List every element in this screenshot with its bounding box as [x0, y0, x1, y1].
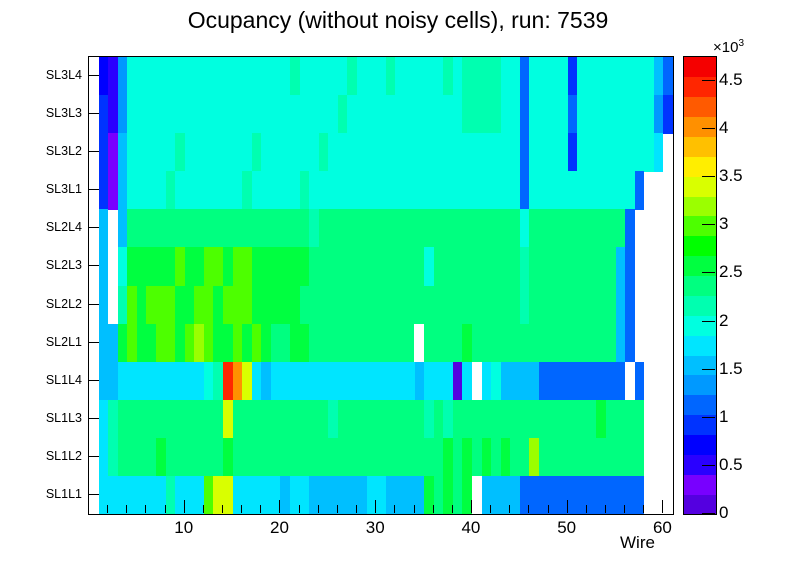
heatmap-cell [194, 324, 204, 363]
palette-tick-label: 1.5 [719, 360, 743, 378]
heatmap-cell [577, 95, 654, 134]
palette-band [684, 295, 716, 315]
y-axis-label-sl3l2: SL3L2 [46, 145, 82, 157]
x-axis-minor-tick [337, 505, 338, 513]
heatmap-cell [453, 476, 463, 514]
palette-tick-label: 1 [719, 408, 728, 426]
heatmap-cell [175, 247, 185, 286]
heatmap-cell [271, 362, 415, 401]
heatmap-cell [156, 438, 166, 477]
heatmap-cell [300, 171, 310, 210]
heatmap-cell [99, 209, 109, 248]
heatmap-cell [127, 57, 290, 96]
palette-tick [702, 417, 715, 418]
heatmap-cell [472, 324, 616, 363]
palette-band [684, 395, 716, 415]
heatmap-cell [204, 476, 214, 514]
heatmap-cell [185, 324, 195, 363]
palette-band [684, 435, 716, 455]
y-axis-tick [88, 304, 99, 305]
heatmap-cell [415, 362, 425, 401]
heatmap-cell [99, 438, 109, 477]
y-axis-label-sl2l4: SL2L4 [46, 221, 82, 233]
x-axis-minor-tick [643, 505, 644, 513]
palette-tick-label: 4 [719, 119, 728, 137]
y-axis-label-sl3l4: SL3L4 [46, 69, 82, 81]
palette-tick [702, 80, 715, 81]
heatmap-cell [118, 209, 128, 248]
palette-tick-label: 2 [719, 312, 728, 330]
heatmap-cell [529, 171, 634, 210]
heatmap-cell [462, 362, 472, 401]
heatmap-cell [319, 133, 329, 172]
x-axis-minor-tick [414, 505, 415, 513]
heatmap-cell [118, 57, 128, 96]
heatmap-cell [347, 57, 357, 96]
heatmap-cell [204, 247, 223, 286]
heatmap-cell [300, 286, 520, 325]
heatmap-cell [137, 286, 147, 325]
heatmap-cell [175, 133, 185, 172]
heatmap-cell [501, 362, 539, 401]
y-axis-label-sl1l3: SL1L3 [46, 412, 82, 424]
heatmap-cell [596, 400, 606, 439]
palette-tick [702, 321, 715, 322]
palette-tick-label: 0.5 [719, 456, 743, 474]
heatmap-cell [194, 286, 213, 325]
x-axis-major-tick [471, 500, 472, 513]
x-axis-major-tick [279, 500, 280, 513]
heatmap-cell [127, 95, 338, 134]
heatmap-cell [166, 438, 223, 477]
heatmap-cell [118, 95, 128, 134]
heatmap-cell [424, 324, 462, 363]
heatmap-cell [625, 209, 635, 248]
heatmap-cell [616, 286, 626, 325]
y-axis-tick [88, 265, 99, 266]
palette-band [684, 176, 716, 196]
heatmap-cell [482, 476, 520, 514]
heatmap-cell [443, 400, 453, 439]
heatmap-cell [328, 133, 519, 172]
heatmap-cell [654, 57, 664, 96]
heatmap-cell [625, 324, 635, 363]
heatmap-cell [357, 57, 386, 96]
y-axis-tick [88, 456, 99, 457]
heatmap-cell [99, 171, 109, 210]
x-axis-minor-tick [107, 505, 108, 513]
root-canvas: Ocupancy (without noisy cells), run: 753… [0, 0, 796, 572]
heatmap-cell [166, 476, 176, 514]
y-axis-tick [88, 380, 99, 381]
heatmap-cell [539, 362, 625, 401]
palette-band [684, 375, 716, 395]
y-axis-label-sl3l1: SL3L1 [46, 183, 82, 195]
x-axis-minor-tick [318, 505, 319, 513]
x-axis-minor-tick [605, 505, 606, 513]
heatmap-cell [568, 95, 578, 134]
heatmap-cell [520, 209, 530, 248]
y-axis-tick [88, 151, 99, 152]
heatmap-cell [118, 286, 128, 325]
heatmap-cell [118, 324, 128, 363]
y-axis-tick [88, 75, 99, 76]
palette-tick [702, 176, 715, 177]
heatmap-cell [118, 171, 128, 210]
heatmap-cell [261, 324, 271, 363]
heatmap-cell [233, 324, 243, 363]
palette-band [684, 136, 716, 156]
heatmap-cell [99, 133, 109, 172]
heatmap-cell [252, 133, 262, 172]
heatmap-cell [625, 286, 635, 325]
heatmap-cell [252, 171, 300, 210]
heatmap-cell [635, 171, 645, 210]
heatmap-cell [529, 438, 539, 477]
heatmap-cell [635, 362, 645, 401]
heatmap-cell [520, 95, 530, 134]
heatmap-cell [529, 286, 615, 325]
page-title: Ocupancy (without noisy cells), run: 753… [0, 6, 796, 34]
heatmap-cell [99, 362, 118, 401]
y-axis-tick [88, 418, 99, 419]
heatmap-cell [520, 57, 530, 96]
heatmap-cell [309, 247, 424, 286]
x-axis-minor-tick [528, 505, 529, 513]
heatmap-cell [233, 247, 252, 286]
y-axis-tick [88, 227, 99, 228]
palette-tick [702, 224, 715, 225]
heatmap-cell [204, 362, 214, 401]
heatmap-cell [347, 95, 462, 134]
heatmap-cell [328, 400, 338, 439]
heatmap-cell [453, 362, 463, 401]
heatmap-cell [319, 209, 520, 248]
x-axis-tick-label: 50 [542, 519, 592, 537]
heatmap-cell [616, 247, 626, 286]
heatmap-cell [213, 324, 232, 363]
heatmap-cell [443, 438, 453, 477]
palette-exponent-base: ×10 [713, 39, 738, 56]
heatmap-cell [99, 476, 166, 514]
y-axis-tick [88, 494, 99, 495]
palette-band [684, 276, 716, 296]
heatmap-cell [280, 476, 290, 514]
heatmap-cell [185, 133, 252, 172]
y-axis-label-sl1l4: SL1L4 [46, 374, 82, 386]
palette-band [684, 494, 716, 514]
heatmap-cell [252, 286, 300, 325]
x-axis-major-tick [184, 500, 185, 513]
heatmap-cell [539, 438, 644, 477]
palette-tick-label: 4.5 [719, 71, 743, 89]
x-axis-minor-tick [299, 505, 300, 513]
palette-band [684, 156, 716, 176]
x-axis-major-tick [662, 500, 663, 513]
heatmap-cell [223, 438, 233, 477]
palette-band [684, 216, 716, 236]
heatmap-cell [309, 171, 520, 210]
x-axis-minor-tick [165, 505, 166, 513]
y-axis-labels: SL3L4SL3L3SL3L2SL3L1SL2L4SL2L3SL2L2SL2L1… [0, 56, 82, 513]
x-axis-minor-tick [586, 505, 587, 513]
heatmap-cell [223, 247, 233, 286]
heatmap-cell [185, 247, 204, 286]
heatmap-cell [242, 171, 252, 210]
heatmap-cell [568, 133, 578, 172]
heatmap-cell [654, 95, 664, 134]
x-axis-minor-tick [241, 505, 242, 513]
palette-band [684, 335, 716, 355]
heatmap-cell [606, 400, 644, 439]
palette-tick-label: 0 [719, 504, 728, 522]
heatmap-cell [520, 476, 644, 514]
palette-band [684, 236, 716, 256]
heatmap-cell [261, 362, 271, 401]
heatmap-cell [118, 133, 128, 172]
palette-tick [702, 513, 715, 514]
heatmap-cell [529, 57, 567, 96]
heatmap-cell [520, 171, 530, 210]
x-axis-tick-label: 10 [159, 519, 209, 537]
x-axis-title: Wire [620, 534, 655, 552]
x-axis-minor-tick [145, 505, 146, 513]
x-axis-minor-tick [203, 505, 204, 513]
heatmap-cell [127, 133, 175, 172]
heatmap-cell [127, 286, 137, 325]
heatmap-cell [108, 171, 118, 210]
heatmap-cell [424, 400, 434, 439]
palette-band [684, 196, 716, 216]
heatmap-cell [271, 324, 290, 363]
y-axis-label-sl2l3: SL2L3 [46, 259, 82, 271]
heatmap-cell [99, 57, 109, 96]
color-palette-bar [683, 56, 717, 515]
heatmap-cell [434, 400, 444, 439]
heatmap-cell [223, 362, 233, 401]
heatmap-cell [118, 400, 223, 439]
heatmap-cell [127, 324, 137, 363]
heatmap-cell [242, 324, 252, 363]
x-axis-minor-tick [433, 505, 434, 513]
heatmap-cell [577, 133, 654, 172]
heatmap-cell [663, 95, 673, 134]
x-axis-minor-tick [88, 505, 89, 513]
heatmap-cell [510, 438, 529, 477]
heatmap-cell [443, 57, 453, 96]
heatmap-cell [99, 95, 109, 134]
heatmap-cell [175, 286, 194, 325]
heatmap-cell [99, 324, 118, 363]
heatmap-cell [654, 133, 664, 172]
heatmap-cell [175, 476, 204, 514]
palette-band [684, 474, 716, 494]
heatmap-cell [166, 171, 176, 210]
heatmap-cell [233, 400, 329, 439]
heatmap-cell [290, 324, 309, 363]
heatmap-cell [482, 362, 492, 401]
heatmap-cell [118, 362, 204, 401]
heatmap-cell [529, 209, 625, 248]
palette-tick [702, 369, 715, 370]
heatmap-cell [501, 438, 511, 477]
palette-band [684, 355, 716, 375]
x-axis-minor-tick [356, 505, 357, 513]
heatmap-cell [175, 324, 185, 363]
heatmap-cell [529, 247, 615, 286]
palette-tick [702, 465, 715, 466]
x-axis-minor-tick [126, 505, 127, 513]
heatmap-cell [338, 400, 424, 439]
heatmap-cell [386, 57, 396, 96]
heatmap-cell [146, 286, 175, 325]
heatmap-cell [625, 247, 635, 286]
heatmap-cell [577, 57, 654, 96]
heatmap-cell [290, 57, 300, 96]
heatmap-cell [529, 95, 567, 134]
palette-tick [702, 272, 715, 273]
heatmap-cell [424, 247, 434, 286]
heatmap-cell [204, 324, 214, 363]
x-axis-tick-label: 30 [350, 519, 400, 537]
plot-frame [88, 56, 674, 515]
heatmap-cell [233, 476, 281, 514]
heatmap-cell [434, 476, 444, 514]
x-axis-major-tick [567, 500, 568, 513]
heatmap-cell [501, 95, 520, 134]
heatmap-cell [501, 57, 520, 96]
y-axis-tick [88, 342, 99, 343]
x-axis-minor-tick [548, 505, 549, 513]
heatmap-cell [252, 247, 309, 286]
heatmap-cell [290, 476, 309, 514]
heatmap-cell [99, 400, 109, 439]
x-axis-minor-tick [222, 505, 223, 513]
heatmap-cell [127, 247, 175, 286]
palette-tick [702, 128, 715, 129]
heatmap-cell [99, 247, 109, 286]
palette-exponent-label: ×103 [713, 36, 744, 56]
heatmap-cell [108, 57, 118, 96]
y-axis-tick [88, 189, 99, 190]
heatmap-cell [118, 438, 156, 477]
heatmap-cell [472, 438, 482, 477]
x-axis-minor-tick [509, 505, 510, 513]
heatmap-cell [434, 247, 520, 286]
x-axis-minor-tick [394, 505, 395, 513]
palette-tick-label: 3.5 [719, 167, 743, 185]
palette-exponent-power: 3 [738, 38, 744, 49]
heatmap-canvas[interactable] [89, 57, 673, 514]
heatmap-cell [424, 362, 453, 401]
y-axis-label-sl2l2: SL2L2 [46, 298, 82, 310]
heatmap-cell [395, 57, 443, 96]
heatmap-cell [386, 476, 424, 514]
heatmap-cell [156, 324, 175, 363]
heatmap-cell [462, 57, 500, 96]
heatmap-cell [491, 438, 501, 477]
heatmap-cell [663, 57, 673, 96]
heatmap-cell [223, 286, 252, 325]
heatmap-cell [529, 133, 567, 172]
y-axis-tick [88, 113, 99, 114]
x-axis-major-tick [375, 500, 376, 513]
x-axis-minor-tick [490, 505, 491, 513]
x-axis-minor-tick [624, 505, 625, 513]
heatmap-cell [242, 362, 252, 401]
x-axis-tick-label: 20 [254, 519, 304, 537]
heatmap-cell [233, 362, 243, 401]
heatmap-cell [108, 400, 118, 439]
heatmap-cell [309, 209, 319, 248]
heatmap-cell [261, 133, 318, 172]
heatmap-cell [252, 362, 262, 401]
x-axis-minor-tick [260, 505, 261, 513]
heatmap-cell [213, 286, 223, 325]
heatmap-cell [127, 209, 309, 248]
heatmap-cell [482, 438, 492, 477]
heatmap-cell [213, 362, 223, 401]
x-axis-tick-label: 40 [446, 519, 496, 537]
y-axis-label-sl2l1: SL2L1 [46, 336, 82, 348]
heatmap-cell [175, 171, 242, 210]
palette-band [684, 57, 716, 77]
heatmap-cell [616, 324, 626, 363]
heatmap-cell [108, 133, 118, 172]
heatmap-cell [99, 286, 109, 325]
heatmap-cell [300, 57, 348, 96]
y-axis-label-sl1l2: SL1L2 [46, 450, 82, 462]
palette-band [684, 315, 716, 335]
heatmap-cell [108, 95, 118, 134]
heatmap-cell [520, 286, 530, 325]
heatmap-cell [233, 438, 444, 477]
heatmap-cell [338, 95, 348, 134]
heatmap-cell [462, 438, 472, 477]
heatmap-cell [453, 400, 597, 439]
heatmap-cell [520, 247, 530, 286]
palette-tick-label: 2.5 [719, 263, 743, 281]
heatmap-cell [137, 324, 156, 363]
x-axis-minor-tick [452, 505, 453, 513]
heatmap-cell [213, 476, 232, 514]
heatmap-cell [462, 324, 472, 363]
heatmap-cell [127, 171, 165, 210]
heatmap-cell [118, 247, 128, 286]
heatmap-cell [309, 324, 414, 363]
heatmap-cell [252, 324, 262, 363]
y-axis-label-sl1l1: SL1L1 [46, 488, 82, 500]
heatmap-cell [108, 438, 118, 477]
heatmap-cell [223, 400, 233, 439]
heatmap-cell [520, 133, 530, 172]
y-axis-label-sl3l3: SL3L3 [46, 107, 82, 119]
palette-band [684, 97, 716, 117]
heatmap-cell [568, 57, 578, 96]
heatmap-cell [453, 438, 463, 477]
palette-band [684, 117, 716, 137]
heatmap-cell [453, 57, 463, 96]
heatmap-cell [491, 362, 501, 401]
palette-tick-label: 3 [719, 215, 728, 233]
heatmap-cell [462, 95, 500, 134]
